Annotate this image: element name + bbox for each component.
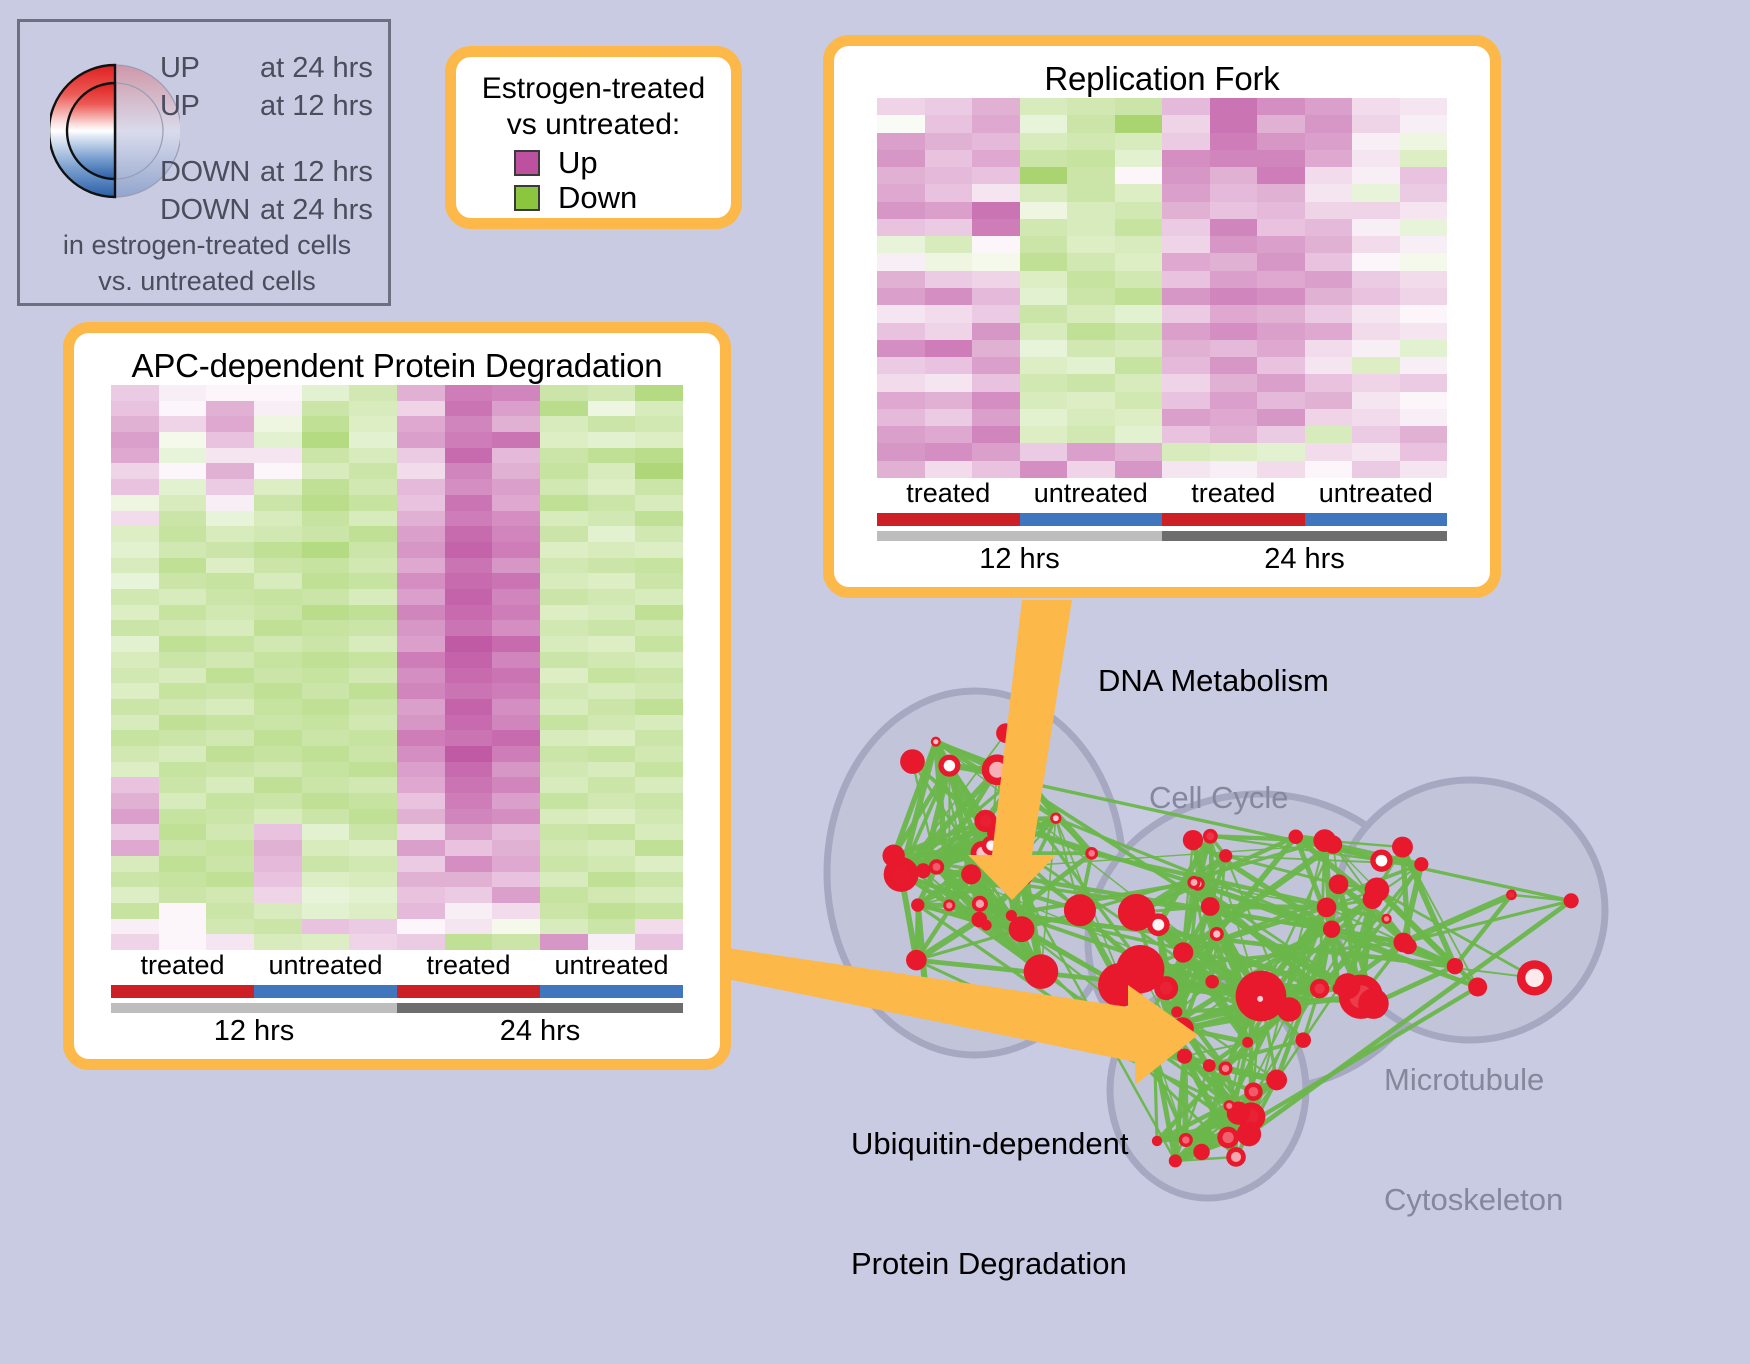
- network-node-core: [1509, 892, 1515, 898]
- heatmap-cell: [1115, 236, 1163, 253]
- heatmap-cell: [1067, 150, 1115, 167]
- heatmap-cell: [445, 887, 493, 903]
- colorwheel-legend-rows: UP at 24 hrs UP at 12 hrs DOWN at 12 hrs…: [160, 52, 390, 232]
- network-node[interactable]: [1334, 973, 1360, 999]
- heatmap-cell: [1257, 323, 1305, 340]
- up-swatch-icon: [514, 150, 540, 176]
- heatmap-cell: [206, 526, 254, 542]
- heatmap-cell: [302, 934, 350, 950]
- heatmap-cell: [159, 526, 207, 542]
- heatmap-cell: [302, 903, 350, 919]
- heatmap-cell: [1305, 219, 1353, 236]
- heatmap-cell: [254, 511, 302, 527]
- network-node[interactable]: [1277, 997, 1301, 1021]
- heatmap-cell: [445, 416, 493, 432]
- heatmap-cell: [1162, 305, 1210, 322]
- heatmap-cell: [972, 253, 1020, 270]
- heatmap-cell: [635, 432, 683, 448]
- heatmap-cell: [972, 288, 1020, 305]
- heatmap-cell: [1352, 323, 1400, 340]
- heatmap-cell: [159, 919, 207, 935]
- network-node[interactable]: [916, 994, 937, 1015]
- heatmap-cell: [492, 872, 540, 888]
- heatmap-cell: [206, 699, 254, 715]
- heatmap-cell: [159, 840, 207, 856]
- heatmap-cell: [445, 526, 493, 542]
- heatmap-cell: [877, 167, 925, 184]
- heatmap-cell: [349, 934, 397, 950]
- heatmap-cell: [254, 605, 302, 621]
- heatmap-cell: [972, 305, 1020, 322]
- heatmap-cell: [159, 777, 207, 793]
- heatmap-cell: [1067, 340, 1115, 357]
- heatmap-cell: [540, 809, 588, 825]
- heatmap-cell: [302, 401, 350, 417]
- network-node[interactable]: [1447, 958, 1463, 974]
- heatmap-cell: [1020, 392, 1068, 409]
- heatmap-cell: [1115, 133, 1163, 150]
- heatmap-cell: [588, 919, 636, 935]
- heatmap-cell: [540, 793, 588, 809]
- heatmap-cell: [1067, 167, 1115, 184]
- heatmap-cell: [206, 903, 254, 919]
- estrogen-key-item-up: Up: [514, 147, 731, 178]
- heatmap-cell: [877, 219, 925, 236]
- heatmap-cell: [302, 542, 350, 558]
- heatmap-cell: [588, 887, 636, 903]
- network-node[interactable]: [916, 863, 931, 878]
- heatmap-cell: [588, 856, 636, 872]
- heatmap-cell: [1115, 340, 1163, 357]
- network-node[interactable]: [1169, 1154, 1182, 1167]
- heatmap-cell: [540, 542, 588, 558]
- heatmap-cell: [492, 605, 540, 621]
- heatmap-cell: [972, 167, 1020, 184]
- heatmap-cell: [206, 385, 254, 401]
- condition-bar-segment: [877, 513, 1020, 526]
- network-node-core: [946, 902, 952, 908]
- network-node-core: [1018, 771, 1023, 776]
- network-node-core: [986, 840, 996, 850]
- network-node-core: [1249, 1087, 1259, 1097]
- heatmap-cell: [1400, 340, 1448, 357]
- heatmap-cell: [540, 652, 588, 668]
- heatmap-cell: [397, 495, 445, 511]
- heatmap-cell: [972, 461, 1020, 478]
- network-node-core: [980, 815, 992, 827]
- network-node[interactable]: [987, 825, 1002, 840]
- network-node[interactable]: [1393, 933, 1413, 953]
- network-node[interactable]: [1295, 1032, 1311, 1048]
- heatmap-cell: [445, 636, 493, 652]
- heatmap-cell: [1257, 150, 1305, 167]
- heatmap-cell: [302, 919, 350, 935]
- network-node[interactable]: [1205, 975, 1219, 989]
- heatmap-cell: [1352, 202, 1400, 219]
- heatmap-cell: [1400, 357, 1448, 374]
- timepoint-bar-segment: [111, 1003, 397, 1013]
- condition-color-bar: [111, 985, 683, 998]
- heatmap-cell: [159, 463, 207, 479]
- condition-bar-segment: [1020, 513, 1163, 526]
- heatmap-cell: [877, 357, 925, 374]
- heatmap-cell: [540, 526, 588, 542]
- heatmap-cell: [206, 762, 254, 778]
- heatmap-cell: [635, 887, 683, 903]
- heatmap-cell: [972, 426, 1020, 443]
- network-node[interactable]: [1329, 874, 1349, 894]
- heatmap-cell: [111, 919, 159, 935]
- heatmap-cell: [445, 730, 493, 746]
- heatmap-cell: [588, 479, 636, 495]
- network-node[interactable]: [961, 864, 981, 884]
- heatmap-cell: [1210, 253, 1258, 270]
- heatmap-cell: [349, 542, 397, 558]
- condition-label: untreated: [254, 950, 397, 981]
- network-node[interactable]: [1414, 857, 1428, 871]
- heatmap-cell: [1400, 253, 1448, 270]
- network-node-core: [892, 865, 910, 883]
- heatmap-cell: [1352, 443, 1400, 460]
- heatmap-cell: [1210, 150, 1258, 167]
- heatmap-cell: [349, 558, 397, 574]
- heatmap-cell: [349, 652, 397, 668]
- network-node[interactable]: [1173, 942, 1193, 962]
- timepoint-label-row: 12 hrs24 hrs: [111, 1015, 683, 1048]
- heatmap-cell: [877, 253, 925, 270]
- heatmap-cell: [445, 385, 493, 401]
- heatmap-cell: [492, 715, 540, 731]
- network-node[interactable]: [906, 950, 927, 971]
- heatmap-cell: [1162, 253, 1210, 270]
- heatmap-cell: [445, 479, 493, 495]
- heatmap-cell: [159, 620, 207, 636]
- heatmap-cell: [1210, 426, 1258, 443]
- heatmap-cell: [540, 448, 588, 464]
- heatmap-cell: [635, 495, 683, 511]
- condition-bar-segment: [1305, 513, 1448, 526]
- heatmap-cell: [972, 392, 1020, 409]
- heatmap-cell: [540, 934, 588, 950]
- heatmap-cell: [254, 479, 302, 495]
- heatmap-cell: [254, 495, 302, 511]
- heatmap-cell: [1067, 133, 1115, 150]
- heatmap-cell: [1352, 305, 1400, 322]
- network-node[interactable]: [1193, 1144, 1209, 1160]
- heatmap-cell: [635, 463, 683, 479]
- heatmap-cell: [877, 115, 925, 132]
- heatmap-cell: [254, 589, 302, 605]
- heatmap-cell: [1400, 409, 1448, 426]
- heatmap-cell: [349, 526, 397, 542]
- heatmap-cell: [1020, 323, 1068, 340]
- heatmap-cell: [397, 401, 445, 417]
- heatmap-cell: [1257, 271, 1305, 288]
- heatmap-cell: [349, 463, 397, 479]
- network-node[interactable]: [1324, 835, 1342, 853]
- network-node-core: [933, 863, 941, 871]
- condition-label-row: treateduntreatedtreateduntreated: [111, 950, 683, 981]
- network-node[interactable]: [971, 912, 987, 928]
- heatmap-cell: [159, 495, 207, 511]
- heatmap-cell: [254, 385, 302, 401]
- timepoint-color-bar: [111, 1003, 683, 1013]
- heatmap-cell: [1162, 202, 1210, 219]
- timepoint-label: 24 hrs: [1162, 543, 1447, 576]
- heatmap-cell: [111, 746, 159, 762]
- heatmap-cell: [1257, 461, 1305, 478]
- heatmap-cell: [588, 715, 636, 731]
- heatmap-cell: [925, 150, 973, 167]
- heatmap-cell: [1210, 202, 1258, 219]
- heatmap-cell: [111, 542, 159, 558]
- network-node[interactable]: [1266, 1070, 1287, 1091]
- network-node[interactable]: [1009, 916, 1035, 942]
- heatmap-cell: [588, 699, 636, 715]
- heatmap-cell: [492, 463, 540, 479]
- network-node[interactable]: [1201, 897, 1220, 916]
- condition-bar-segment: [540, 985, 683, 998]
- heatmap-cell: [254, 840, 302, 856]
- heatmap-cell: [925, 392, 973, 409]
- heatmap-cell: [540, 573, 588, 589]
- heatmap-cell: [925, 98, 973, 115]
- heatmap-cell: [349, 432, 397, 448]
- heatmap-cell: [111, 730, 159, 746]
- heatmap-cell: [1020, 236, 1068, 253]
- heatmap-cell: [1115, 426, 1163, 443]
- heatmap-cell: [492, 573, 540, 589]
- heatmap-cell: [540, 589, 588, 605]
- heatmap-cell: [1400, 374, 1448, 391]
- heatmap-cell: [492, 683, 540, 699]
- estrogen-key-title-line2: vs untreated:: [456, 107, 731, 143]
- heatmap-cell: [397, 668, 445, 684]
- heatmap-cell: [159, 934, 207, 950]
- heatmap-cell: [492, 636, 540, 652]
- heatmap-cell: [972, 323, 1020, 340]
- heatmap-cell: [159, 636, 207, 652]
- heatmap-cell: [445, 699, 493, 715]
- heatmap-cell: [1352, 271, 1400, 288]
- down-label: Down: [558, 182, 637, 213]
- heatmap-cell: [206, 401, 254, 417]
- heatmap-cell: [159, 856, 207, 872]
- heatmap-cell: [588, 385, 636, 401]
- network-node[interactable]: [1203, 1059, 1216, 1072]
- heatmap-cell: [349, 605, 397, 621]
- heatmap-cell: [254, 824, 302, 840]
- heatmap-cell: [1210, 340, 1258, 357]
- heatmap-cell: [349, 856, 397, 872]
- heatmap-cell: [635, 809, 683, 825]
- network-node[interactable]: [1162, 1018, 1178, 1034]
- heatmap-cell: [1210, 392, 1258, 409]
- heatmap-cell: [1352, 150, 1400, 167]
- network-node[interactable]: [1317, 898, 1337, 918]
- heatmap-cell: [588, 573, 636, 589]
- heatmap-cell: [1305, 461, 1353, 478]
- heatmap-cell: [540, 668, 588, 684]
- heatmap-cell: [397, 463, 445, 479]
- heatmap-cell: [635, 699, 683, 715]
- heatmap-cell: [925, 374, 973, 391]
- network-node[interactable]: [1064, 894, 1096, 926]
- timepoint-bar-segment: [877, 531, 1162, 541]
- network-node[interactable]: [1564, 893, 1579, 908]
- heatmap-cell: [925, 253, 973, 270]
- heatmap-cell: [302, 495, 350, 511]
- heatmap-cell: [1400, 98, 1448, 115]
- heatmap-cell: [972, 374, 1020, 391]
- network-node[interactable]: [996, 723, 1016, 743]
- heatmap-cell: [1257, 426, 1305, 443]
- heatmap-cell: [588, 526, 636, 542]
- timepoint-bar-segment: [397, 1003, 683, 1013]
- network-node[interactable]: [911, 898, 924, 911]
- heatmap-cell: [206, 856, 254, 872]
- heatmap-cell: [254, 887, 302, 903]
- heatmap-cell: [397, 605, 445, 621]
- heatmap-cell: [397, 919, 445, 935]
- heatmap-cell: [349, 479, 397, 495]
- heatmap-cell: [1067, 409, 1115, 426]
- network-node[interactable]: [1152, 1136, 1162, 1146]
- heatmap-cell: [1067, 374, 1115, 391]
- heatmap-cell: [1020, 305, 1068, 322]
- heatmap-cell: [1210, 357, 1258, 374]
- heatmap-cell: [588, 824, 636, 840]
- heatmap-cell: [349, 919, 397, 935]
- heatmap-cell: [397, 385, 445, 401]
- heatmap-cell: [159, 903, 207, 919]
- heatmap-cell: [1352, 219, 1400, 236]
- heatmap-cell: [1257, 374, 1305, 391]
- heatmap-cell: [540, 730, 588, 746]
- heatmap-cell: [635, 730, 683, 746]
- network-node[interactable]: [882, 844, 904, 866]
- heatmap-cell: [1115, 357, 1163, 374]
- heatmap-cell: [492, 730, 540, 746]
- heatmap-cell: [635, 919, 683, 935]
- heatmap-cell: [445, 668, 493, 684]
- heatmap-cell: [1305, 305, 1353, 322]
- network-node[interactable]: [1024, 954, 1059, 989]
- heatmap-cell: [206, 746, 254, 762]
- network-node-core: [1376, 855, 1388, 867]
- heatmap-cell: [111, 385, 159, 401]
- heatmap-cell: [206, 715, 254, 731]
- heatmap-cell: [302, 511, 350, 527]
- network-node[interactable]: [1237, 1122, 1261, 1146]
- heatmap-cell: [492, 652, 540, 668]
- heatmap-cell: [1115, 202, 1163, 219]
- heatmap-cell: [1067, 115, 1115, 132]
- network-node[interactable]: [1392, 837, 1413, 858]
- network-node[interactable]: [1177, 1049, 1192, 1064]
- network-node[interactable]: [1323, 920, 1340, 937]
- heatmap-cell: [972, 98, 1020, 115]
- network-node[interactable]: [900, 749, 925, 774]
- heatmap-cell: [111, 511, 159, 527]
- heatmap-cell: [159, 715, 207, 731]
- heatmap-cell: [111, 668, 159, 684]
- heatmap-cell: [159, 872, 207, 888]
- heatmap-cell: [877, 98, 925, 115]
- heatmap-cell: [111, 495, 159, 511]
- heatmap-cell: [206, 448, 254, 464]
- heatmap-cell: [492, 589, 540, 605]
- heatmap-cell: [1020, 115, 1068, 132]
- heatmap-cell: [588, 401, 636, 417]
- heatmap-cell: [159, 683, 207, 699]
- network-node[interactable]: [1219, 849, 1232, 862]
- network-node[interactable]: [1288, 829, 1303, 844]
- heatmap-cell: [1162, 426, 1210, 443]
- network-node[interactable]: [1146, 1041, 1163, 1058]
- heatmap-cell: [492, 919, 540, 935]
- legend-key: UP: [160, 52, 260, 85]
- heatmap-cell: [111, 809, 159, 825]
- heatmap-cell: [1162, 461, 1210, 478]
- heatmap-cell: [1067, 219, 1115, 236]
- network-node[interactable]: [1242, 1037, 1253, 1048]
- heatmap-cell: [159, 385, 207, 401]
- heatmap-cell: [206, 573, 254, 589]
- network-node-core: [1315, 984, 1325, 994]
- heatmap-cell: [159, 416, 207, 432]
- ubiquitin-line2: Protein Degradation: [851, 1244, 1129, 1284]
- heatmap-cell: [492, 887, 540, 903]
- heatmap-cell: [1020, 271, 1068, 288]
- heatmap-cell: [877, 236, 925, 253]
- heatmap-cell: [877, 409, 925, 426]
- network-node-core: [1222, 1065, 1229, 1072]
- network-node[interactable]: [1171, 1006, 1182, 1017]
- heatmap-cell: [1020, 461, 1068, 478]
- network-node-core: [989, 762, 1005, 778]
- heatmap-cell: [877, 133, 925, 150]
- heatmap-cell: [1115, 461, 1163, 478]
- heatmap-cell: [159, 762, 207, 778]
- network-node-core: [1191, 879, 1198, 886]
- heatmap-cell: [635, 636, 683, 652]
- heatmap-cell: [588, 668, 636, 684]
- heatmap-cell: [445, 463, 493, 479]
- heatmap-cell: [349, 385, 397, 401]
- heatmap-cell: [1210, 409, 1258, 426]
- heatmap-cell: [1352, 340, 1400, 357]
- network-node[interactable]: [1183, 830, 1203, 850]
- network-node[interactable]: [1098, 963, 1142, 1007]
- heatmap-cell: [1210, 133, 1258, 150]
- heatmap-cell: [302, 887, 350, 903]
- heatmap-cell: [1162, 288, 1210, 305]
- heatmap-cell: [302, 715, 350, 731]
- heatmap-cell: [1305, 236, 1353, 253]
- network-node[interactable]: [1131, 1026, 1149, 1044]
- heatmap-cell: [111, 762, 159, 778]
- heatmap-cell: [254, 762, 302, 778]
- heatmap-cell: [1352, 374, 1400, 391]
- heatmap-cell: [588, 777, 636, 793]
- heatmap-cell: [1305, 115, 1353, 132]
- network-node[interactable]: [1365, 877, 1390, 902]
- heatmap-cell: [1067, 392, 1115, 409]
- heatmap-cell: [302, 448, 350, 464]
- heatmap-cell: [1020, 133, 1068, 150]
- timepoint-bar-segment: [1162, 531, 1447, 541]
